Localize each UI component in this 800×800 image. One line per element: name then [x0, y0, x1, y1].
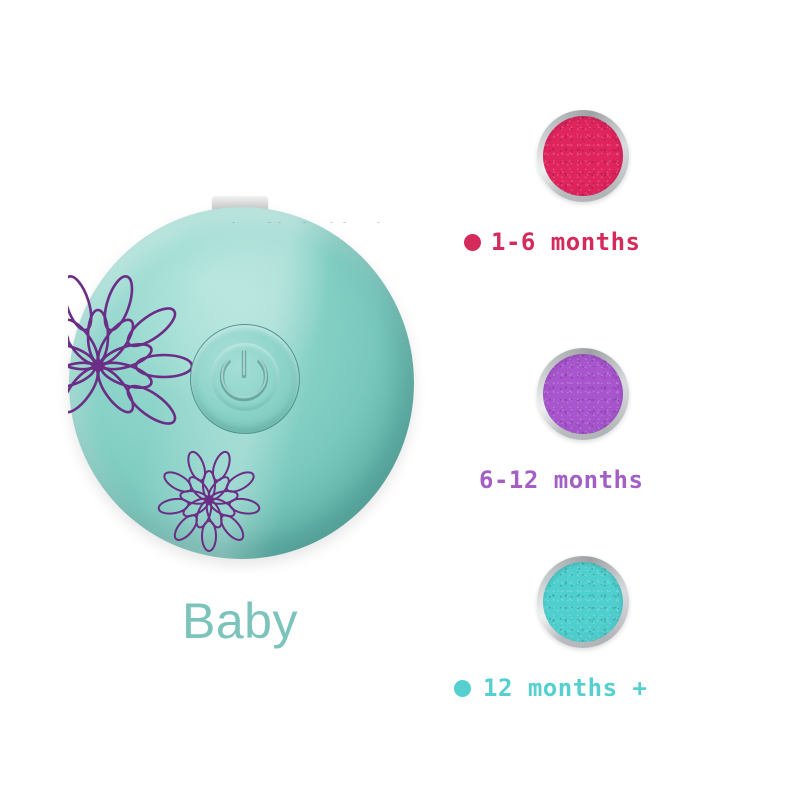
grinding-head-disc[interactable] — [537, 348, 629, 440]
list-item[interactable]: 12 months + — [448, 556, 718, 702]
bullet-icon — [456, 472, 473, 489]
grinding-head-pad — [543, 116, 623, 196]
product-image-canvas: Manicure fashion Baby 1-6 months — [0, 0, 800, 800]
power-button-inner — [211, 343, 279, 411]
nail-trimmer-device[interactable]: Manicure fashion — [60, 196, 420, 586]
grinding-head-label: 6-12 months — [479, 466, 643, 494]
grinding-head-label: 1-6 months — [491, 228, 641, 256]
grinding-head-label-row: 1-6 months — [448, 228, 718, 256]
grinding-head-label-row: 12 months + — [448, 674, 718, 702]
grinding-head-label: 12 months + — [483, 674, 647, 702]
grinding-head-label-row: 6-12 months — [448, 466, 718, 494]
list-item[interactable]: 6-12 months — [448, 348, 718, 494]
grinding-head-disc[interactable] — [537, 556, 629, 648]
bullet-icon — [454, 680, 471, 697]
grinding-head-pad — [543, 354, 623, 434]
grinding-head-disc[interactable] — [537, 110, 629, 202]
grinding-head-pad — [543, 562, 623, 642]
page-title: Baby — [60, 596, 420, 646]
bullet-icon — [464, 234, 481, 251]
power-button[interactable] — [190, 324, 300, 434]
list-item[interactable]: 1-6 months — [448, 110, 718, 256]
